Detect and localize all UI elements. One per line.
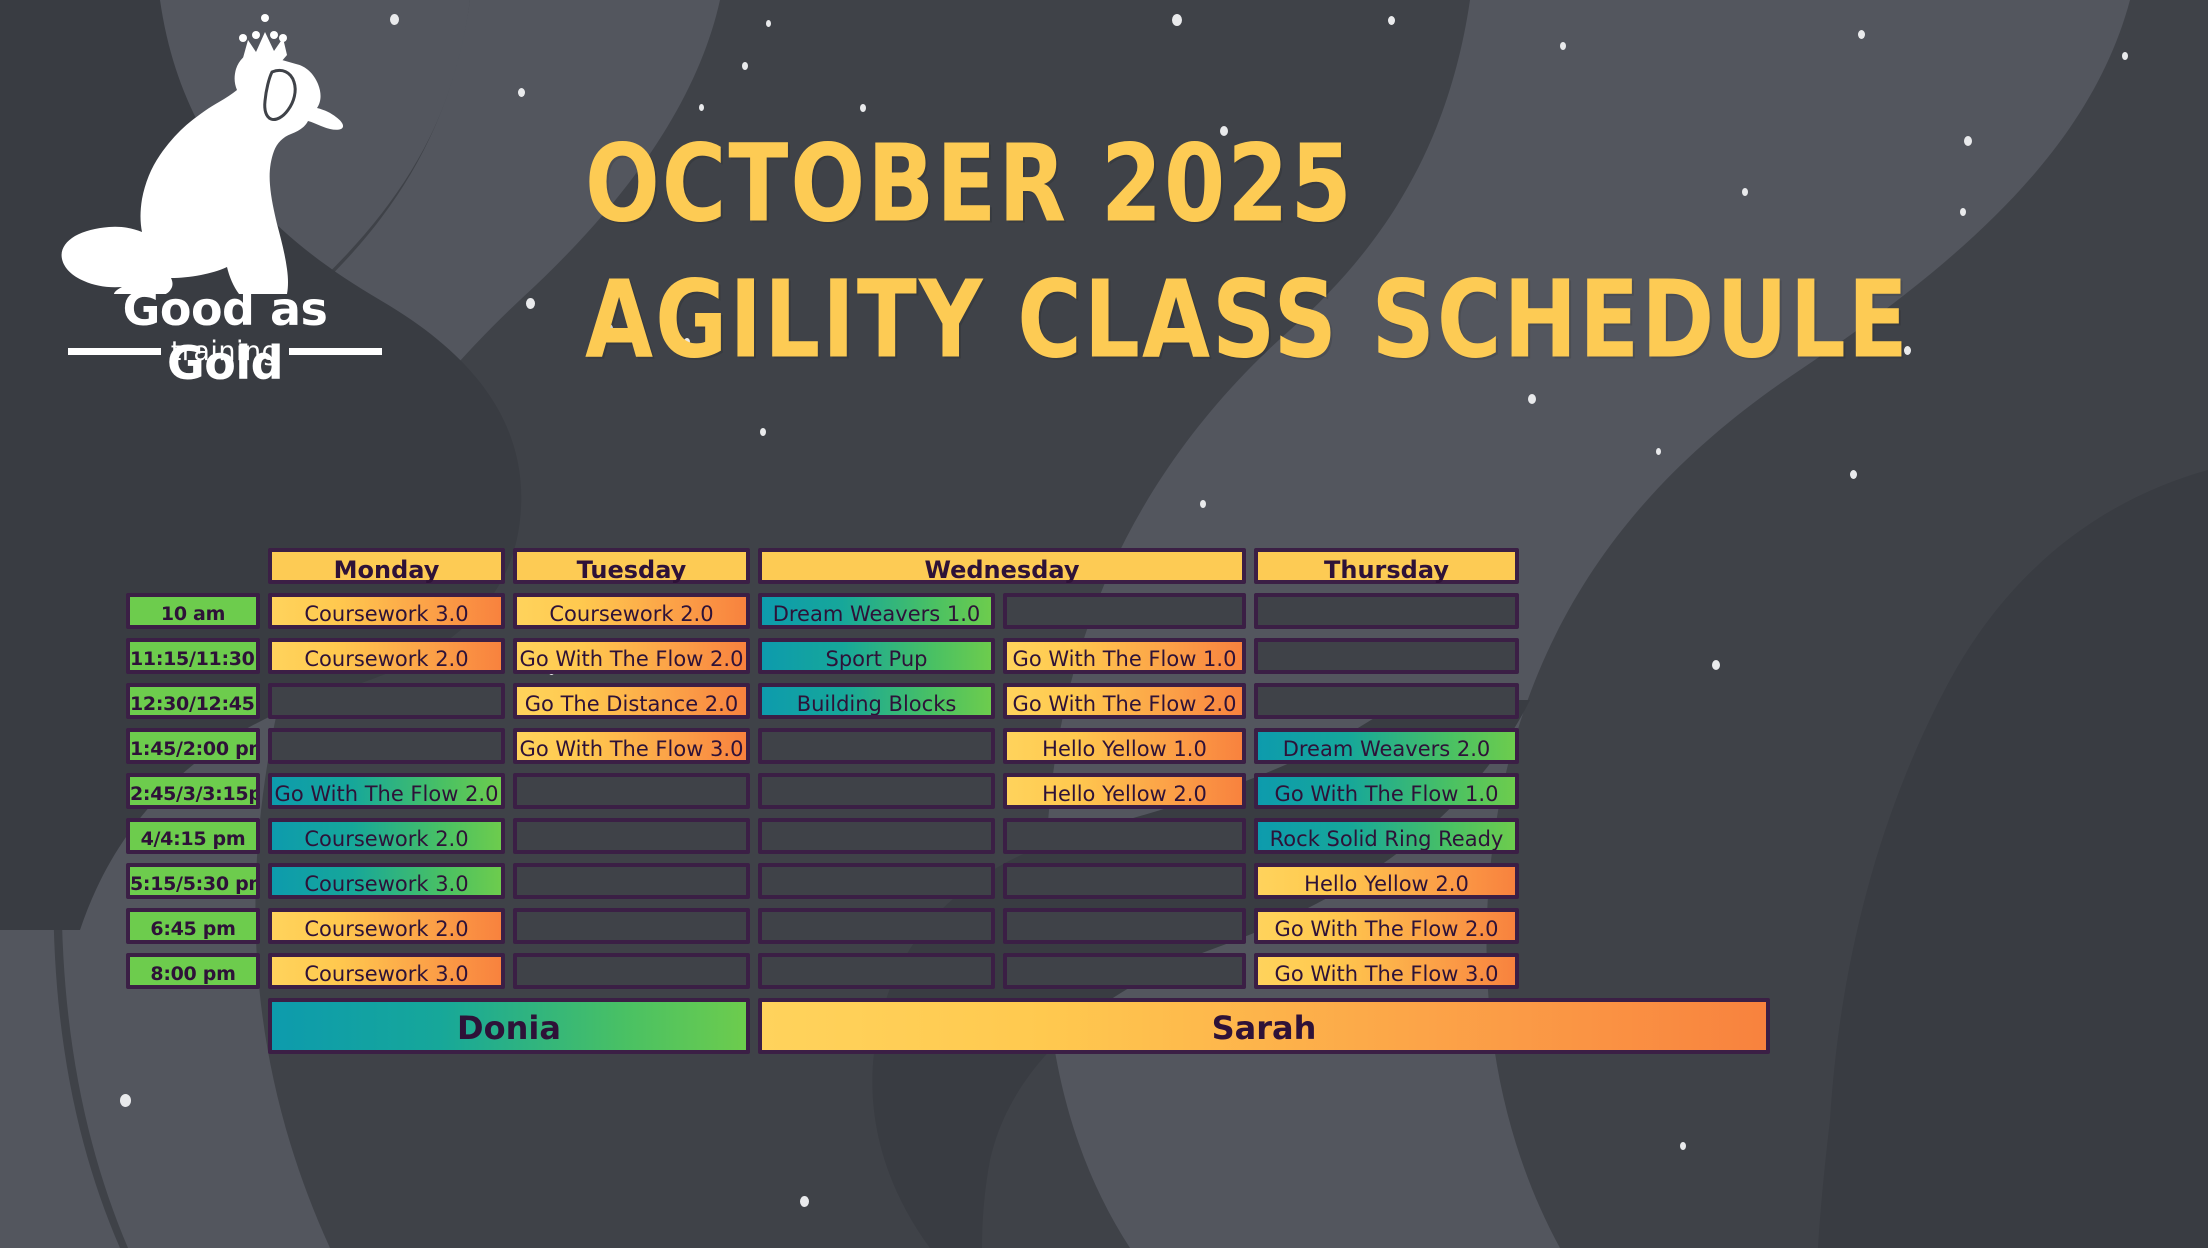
empty-cell xyxy=(268,683,505,719)
class-cell[interactable]: Coursework 2.0 xyxy=(268,638,505,674)
title-line-month: OCTOBER 2025 xyxy=(585,130,2085,237)
class-cell[interactable]: Coursework 2.0 xyxy=(513,593,750,629)
time-label: 8:00 pm xyxy=(126,953,260,989)
empty-cell xyxy=(1254,593,1519,629)
class-cell[interactable]: Sport Pup xyxy=(758,638,995,674)
dot-icon xyxy=(1680,1142,1686,1150)
dot-icon xyxy=(760,428,766,436)
schedule-row: 5:15/5:30 pmCoursework 3.0Hello Yellow 2… xyxy=(126,863,2082,899)
empty-cell xyxy=(513,908,750,944)
dot-icon xyxy=(120,1094,131,1107)
empty-cell xyxy=(1254,683,1519,719)
schedule-table: MondayTuesdayWednesdayThursday 10 amCour… xyxy=(126,548,2082,1054)
day-header-wednesday[interactable]: Wednesday xyxy=(758,548,1246,584)
dot-icon xyxy=(742,62,748,70)
schedule-row: 8:00 pmCoursework 3.0Go With The Flow 3.… xyxy=(126,953,2082,989)
empty-cell xyxy=(758,818,995,854)
schedule-row: 10 amCoursework 3.0Coursework 2.0Dream W… xyxy=(126,593,2082,629)
empty-cell xyxy=(513,953,750,989)
schedule-poster: Good as Gold training OCTOBER 2025 AGILI… xyxy=(0,0,2208,1248)
class-cell[interactable]: Rock Solid Ring Ready xyxy=(1254,818,1519,854)
dot-icon xyxy=(1656,448,1661,455)
time-label: 10 am xyxy=(126,593,260,629)
class-cell[interactable]: Go With The Flow 1.0 xyxy=(1254,773,1519,809)
dot-icon xyxy=(1200,500,1206,508)
class-cell[interactable]: Dream Weavers 1.0 xyxy=(758,593,995,629)
dot-icon xyxy=(1528,394,1536,404)
class-cell[interactable]: Go With The Flow 2.0 xyxy=(1254,908,1519,944)
class-cell[interactable]: Go With The Flow 3.0 xyxy=(1254,953,1519,989)
class-cell[interactable]: Dream Weavers 2.0 xyxy=(1254,728,1519,764)
class-cell[interactable]: Coursework 2.0 xyxy=(268,818,505,854)
schedule-row: 2:45/3/3:15pmGo With The Flow 2.0Hello Y… xyxy=(126,773,2082,809)
tagline-rule-right xyxy=(289,348,382,355)
class-cell[interactable]: Coursework 3.0 xyxy=(268,863,505,899)
page-title: OCTOBER 2025 AGILITY CLASS SCHEDULE xyxy=(585,130,2085,354)
class-cell[interactable]: Coursework 3.0 xyxy=(268,593,505,629)
class-cell[interactable]: Go With The Flow 2.0 xyxy=(268,773,505,809)
empty-cell xyxy=(758,953,995,989)
brand-tagline: training xyxy=(171,336,280,367)
time-label: 11:15/11:30 am xyxy=(126,638,260,674)
time-label: 2:45/3/3:15pm xyxy=(126,773,260,809)
crowned-dog-silhouette-icon xyxy=(60,14,390,294)
dot-icon xyxy=(1172,14,1182,26)
dot-icon xyxy=(800,1196,809,1207)
class-cell[interactable]: Hello Yellow 2.0 xyxy=(1254,863,1519,899)
day-header-monday[interactable]: Monday xyxy=(268,548,505,584)
class-cell[interactable]: Go With The Flow 2.0 xyxy=(1003,683,1246,719)
time-label: 4/4:15 pm xyxy=(126,818,260,854)
dot-icon xyxy=(1388,16,1395,25)
time-label: 1:45/2:00 pm xyxy=(126,728,260,764)
empty-cell xyxy=(1003,863,1246,899)
empty-cell xyxy=(513,818,750,854)
schedule-row: 1:45/2:00 pmGo With The Flow 3.0Hello Ye… xyxy=(126,728,2082,764)
class-cell[interactable]: Go With The Flow 1.0 xyxy=(1003,638,1246,674)
schedule-row: 12:30/12:45 pmGo The Distance 2.0Buildin… xyxy=(126,683,2082,719)
empty-cell xyxy=(758,863,995,899)
time-label: 6:45 pm xyxy=(126,908,260,944)
class-cell[interactable]: Hello Yellow 1.0 xyxy=(1003,728,1246,764)
schedule-row: 11:15/11:30 amCoursework 2.0Go With The … xyxy=(126,638,2082,674)
class-cell[interactable]: Coursework 3.0 xyxy=(268,953,505,989)
empty-cell xyxy=(1003,818,1246,854)
instructor-sarah[interactable]: Sarah xyxy=(758,998,1770,1054)
empty-cell xyxy=(268,728,505,764)
dot-icon xyxy=(860,104,866,112)
empty-cell xyxy=(1003,593,1246,629)
day-header-thursday[interactable]: Thursday xyxy=(1254,548,1519,584)
class-cell[interactable]: Hello Yellow 2.0 xyxy=(1003,773,1246,809)
title-line-subject: AGILITY CLASS SCHEDULE xyxy=(585,266,2085,373)
empty-cell xyxy=(758,773,995,809)
empty-cell xyxy=(1003,953,1246,989)
time-label: 5:15/5:30 pm xyxy=(126,863,260,899)
day-header-row: MondayTuesdayWednesdayThursday xyxy=(268,548,2082,584)
empty-cell xyxy=(513,773,750,809)
empty-cell xyxy=(758,908,995,944)
class-cell[interactable]: Building Blocks xyxy=(758,683,995,719)
instructor-row: DoniaSarah xyxy=(268,998,2082,1054)
empty-cell xyxy=(513,863,750,899)
brand-logo: Good as Gold training xyxy=(60,14,390,364)
dot-icon xyxy=(526,298,535,309)
tagline-rule-left xyxy=(68,348,161,355)
dot-icon xyxy=(1560,42,1566,50)
brand-tagline-row: training xyxy=(68,336,382,366)
dot-icon xyxy=(1850,470,1857,479)
class-cell[interactable]: Go The Distance 2.0 xyxy=(513,683,750,719)
class-cell[interactable]: Coursework 2.0 xyxy=(268,908,505,944)
class-cell[interactable]: Go With The Flow 2.0 xyxy=(513,638,750,674)
dot-icon xyxy=(1858,30,1865,39)
dot-icon xyxy=(699,104,704,111)
dot-icon xyxy=(390,14,399,25)
time-label: 12:30/12:45 pm xyxy=(126,683,260,719)
schedule-row: 4/4:15 pmCoursework 2.0Rock Solid Ring R… xyxy=(126,818,2082,854)
class-cell[interactable]: Go With The Flow 3.0 xyxy=(513,728,750,764)
empty-cell xyxy=(1254,638,1519,674)
empty-cell xyxy=(1003,908,1246,944)
dot-icon xyxy=(766,20,771,27)
empty-cell xyxy=(758,728,995,764)
day-header-tuesday[interactable]: Tuesday xyxy=(513,548,750,584)
schedule-body: 10 amCoursework 3.0Coursework 2.0Dream W… xyxy=(126,593,2082,989)
dot-icon xyxy=(518,88,525,97)
schedule-row: 6:45 pmCoursework 2.0Go With The Flow 2.… xyxy=(126,908,2082,944)
instructor-donia[interactable]: Donia xyxy=(268,998,750,1054)
dot-icon xyxy=(2122,52,2128,60)
